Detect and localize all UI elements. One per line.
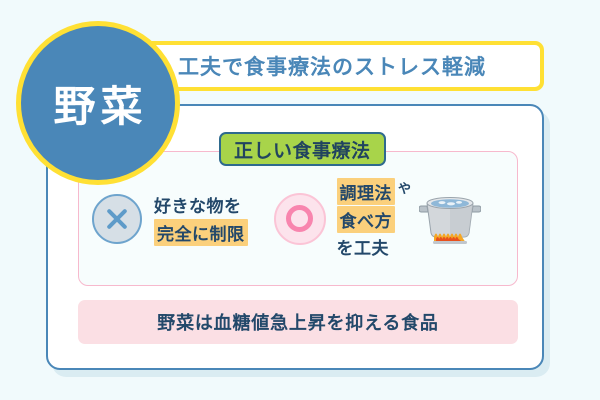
cooking-pot-icon [419,187,481,250]
infographic-root: 工夫で食事療法のストレス軽減 正しい食事療法 好きな物を 完全に制限 調理法 [0,0,600,400]
double-circle-icon [274,193,326,245]
positive-line-3-plain: を工夫 [337,234,390,259]
comparison-item-positive: 調理法 や 食べ方 を工夫 [274,178,482,259]
section-badge-label: 正しい食事療法 [234,136,371,163]
positive-text-block: 調理法 や 食べ方 を工夫 [337,178,412,259]
cross-circle-icon [92,194,142,244]
positive-line-2: 食べ方 [337,206,412,233]
positive-line-1-highlighted: 調理法 [337,178,396,205]
comparison-item-negative: 好きな物を 完全に制限 [92,192,248,246]
vegetable-badge-circle: 野菜 [16,21,180,185]
positive-line-1-suffix: や [398,178,411,197]
negative-text-block: 好きな物を 完全に制限 [154,192,248,246]
negative-line-1: 好きな物を [154,192,248,217]
footer-banner-text: 野菜は血糖値急上昇を抑える食品 [157,309,438,335]
positive-line-3: を工夫 [337,234,412,259]
page-title: 工夫で食事療法のストレス軽減 [178,51,486,81]
negative-line-2-highlighted: 完全に制限 [154,219,248,246]
vegetable-badge-label: 野菜 [48,73,147,134]
header-title-bar: 工夫で食事療法のストレス軽減 [120,41,544,91]
comparison-row: 好きな物を 完全に制限 調理法 や 食べ方 を工夫 [78,151,518,286]
footer-banner: 野菜は血糖値急上昇を抑える食品 [78,300,518,344]
double-circle-inner-ring [286,205,313,232]
positive-line-2-highlighted: 食べ方 [337,206,396,233]
section-badge: 正しい食事療法 [219,132,386,166]
positive-line-1: 調理法 や [337,178,412,205]
